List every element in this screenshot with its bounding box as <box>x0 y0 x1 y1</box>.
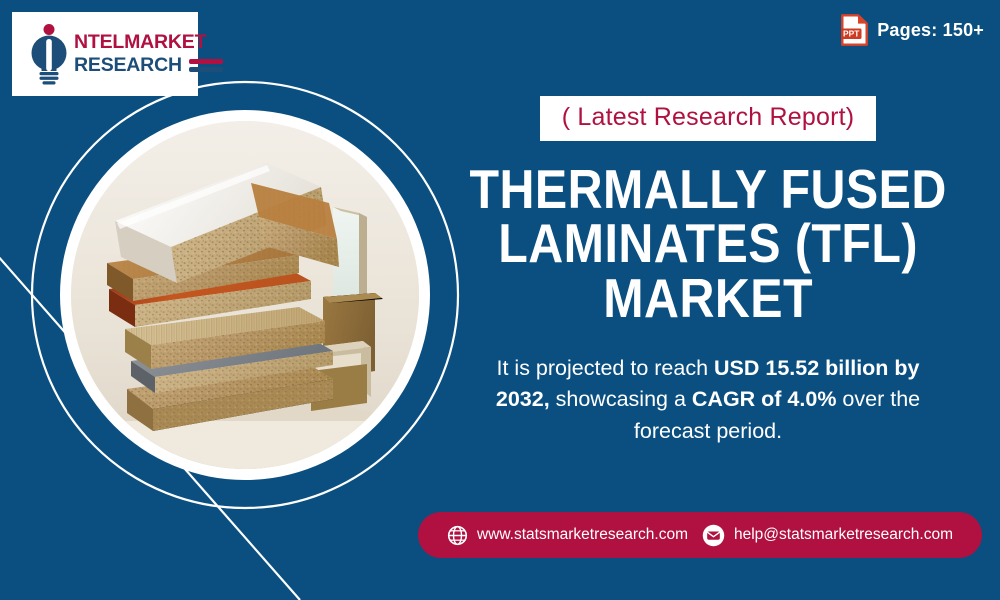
subtitle-part-1: It is projected to reach <box>497 356 715 380</box>
pages-badge: PPT Pages: 150+ <box>841 14 984 46</box>
envelope-icon <box>702 524 725 547</box>
hero-image-frame <box>60 110 430 480</box>
email-link[interactable]: help@statsmarketresearch.com <box>702 524 953 547</box>
logo-line-1: NTELMARKET <box>74 33 223 53</box>
svg-text:PPT: PPT <box>843 28 860 38</box>
title-line-2: LAMINATES (TFL) <box>469 216 946 270</box>
logo-stripes-icon <box>189 59 223 72</box>
website-link[interactable]: www.statsmarketresearch.com <box>447 525 688 546</box>
latest-report-badge: ( Latest Research Report) <box>540 96 877 141</box>
pages-count-label: Pages: 150+ <box>877 20 984 41</box>
hero-image <box>71 121 419 469</box>
title-line-3: MARKET <box>469 271 946 325</box>
ppt-document-icon: PPT <box>841 14 868 46</box>
marketing-banner: NTELMARKET RESEARCH PPT Pages: 150+ <box>0 0 1000 600</box>
logo[interactable]: NTELMARKET RESEARCH <box>12 12 198 96</box>
contact-bar: www.statsmarketresearch.com help@statsma… <box>418 512 982 558</box>
globe-icon <box>447 525 468 546</box>
subtitle-bold-2: CAGR of 4.0% <box>692 387 837 411</box>
market-projection-text: It is projected to reach USD 15.52 billi… <box>468 353 948 447</box>
email-address: help@statsmarketresearch.com <box>734 526 953 544</box>
logo-line-2: RESEARCH <box>74 56 182 76</box>
logo-wordmark: NTELMARKET RESEARCH <box>74 33 223 75</box>
lightbulb-icon <box>26 23 72 85</box>
website-url: www.statsmarketresearch.com <box>477 526 688 544</box>
subtitle-part-2: showcasing a <box>550 387 692 411</box>
content-column: ( Latest Research Report) THERMALLY FUSE… <box>460 96 956 447</box>
page-title: THERMALLY FUSED LAMINATES (TFL) MARKET <box>469 162 946 325</box>
title-line-1: THERMALLY FUSED <box>469 162 946 216</box>
